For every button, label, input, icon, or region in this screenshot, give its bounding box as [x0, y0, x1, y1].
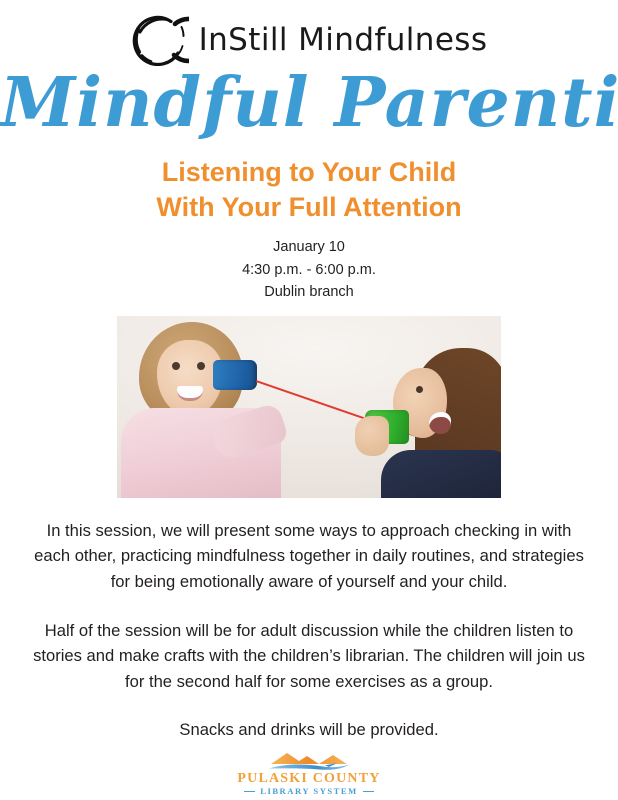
library-subtitle-row: LIBRARY SYSTEM — [244, 787, 374, 796]
page-title: Mindful Parenting — [0, 68, 618, 139]
library-logo: PULASKI COUNTY LIBRARY SYSTEM — [0, 751, 618, 796]
session-photo — [117, 316, 501, 498]
divider-right — [363, 791, 374, 793]
subtitle-line-1: Listening to Your Child — [0, 155, 618, 190]
session-date: January 10 — [0, 236, 618, 258]
child-right-eye — [416, 386, 423, 393]
mountains-wave-icon — [263, 751, 355, 773]
child-right-mouth — [429, 412, 451, 434]
child-right-shirt — [381, 450, 501, 498]
child-right-hand — [355, 416, 389, 456]
session-location: Dublin branch — [0, 281, 618, 303]
session-details: January 10 4:30 p.m. - 6:00 p.m. Dublin … — [0, 236, 618, 303]
photo-illustration — [117, 316, 501, 498]
session-time: 4:30 p.m. - 6:00 p.m. — [0, 259, 618, 281]
flyer-page: InStill Mindfulness Mindful Parenting Li… — [0, 0, 618, 800]
subtitle-line-2: With Your Full Attention — [0, 190, 618, 225]
divider-left — [244, 791, 255, 793]
brand-name: InStill Mindfulness — [199, 25, 488, 56]
library-subtitle: LIBRARY SYSTEM — [260, 787, 358, 796]
library-name: PULASKI COUNTY — [237, 772, 380, 787]
child-left-eye-right — [197, 362, 205, 370]
page-subtitle: Listening to Your Child With Your Full A… — [0, 155, 618, 224]
brand-header: InStill Mindfulness — [0, 0, 618, 62]
blue-cup-icon — [213, 360, 257, 390]
enso-swirl-icon — [131, 14, 189, 66]
body-paragraph-2: Half of the session will be for adult di… — [29, 618, 589, 695]
body-paragraph-3: Snacks and drinks will be provided. — [29, 717, 589, 743]
child-left-eye-left — [172, 362, 180, 370]
body-paragraph-1: In this session, we will present some wa… — [29, 518, 589, 595]
body-copy: In this session, we will present some wa… — [29, 518, 589, 743]
